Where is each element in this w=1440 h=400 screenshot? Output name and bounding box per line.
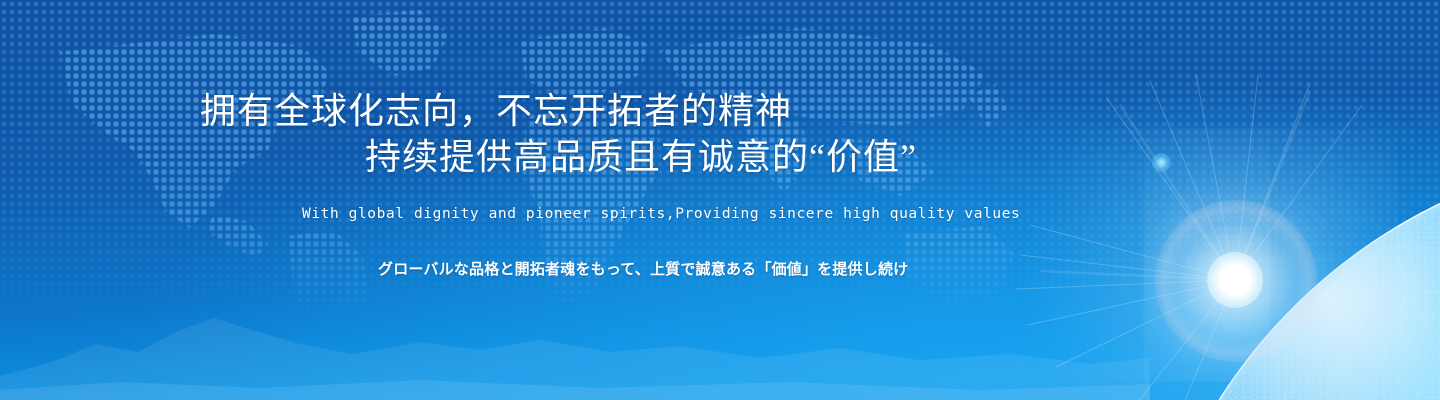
headline: 拥有全球化志向，不忘开拓者的精神 持续提供高品质且有诚意的“价值” bbox=[200, 88, 917, 180]
subtitle-japanese: グローバルな品格と開拓者魂をもって、上質で誠意ある「価値」を提供し続け bbox=[378, 258, 908, 279]
headline-line-1: 拥有全球化志向，不忘开拓者的精神 bbox=[200, 91, 792, 131]
banner-copy: 拥有全球化志向，不忘开拓者的精神 持续提供高品质且有诚意的“价值” With g… bbox=[0, 0, 1080, 400]
subtitle-english: With global dignity and pioneer spirits,… bbox=[302, 206, 1020, 222]
lens-flare-dot bbox=[1152, 153, 1171, 172]
sun-core bbox=[1207, 252, 1263, 308]
hero-banner: 拥有全球化志向，不忘开拓者的精神 持续提供高品质且有诚意的“价值” With g… bbox=[0, 0, 1440, 400]
headline-line-2: 持续提供高品质且有诚意的“价值” bbox=[200, 134, 917, 180]
